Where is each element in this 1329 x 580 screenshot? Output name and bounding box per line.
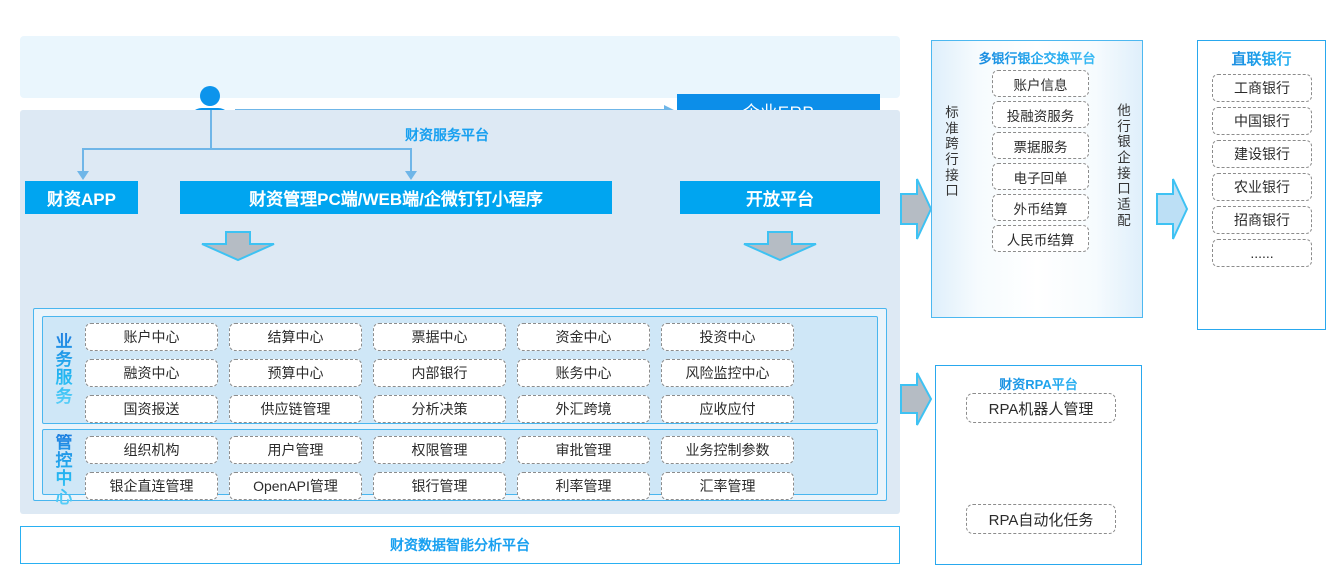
capability-cell[interactable]: 结算中心 bbox=[229, 323, 362, 351]
down-arrow-right-icon bbox=[742, 230, 818, 262]
down-arrow-left-icon bbox=[200, 230, 276, 262]
capability-cell[interactable]: 票据中心 bbox=[373, 323, 506, 351]
biz-label-char-0: 业 bbox=[51, 333, 77, 351]
direct-bank-item[interactable]: 农业银行 bbox=[1212, 173, 1312, 201]
mb-right-char-3: 企 bbox=[1114, 150, 1134, 166]
business-services-grid: 账户中心 结算中心 票据中心 资金中心 投资中心 融资中心 预算中心 内部银行 … bbox=[85, 323, 871, 423]
control-center-group: 管 控 中 心 组织机构 用户管理 权限管理 审批管理 业务控制参数 银企直连管… bbox=[42, 429, 878, 495]
capability-cell[interactable]: 资金中心 bbox=[517, 323, 650, 351]
rpa-item-automation-task[interactable]: RPA自动化任务 bbox=[966, 504, 1116, 534]
capability-cell[interactable]: OpenAPI管理 bbox=[229, 472, 362, 500]
mb-left-char-2: 跨 bbox=[942, 136, 962, 152]
capability-cell[interactable]: 用户管理 bbox=[229, 436, 362, 464]
biz-label-char-1: 务 bbox=[51, 351, 77, 369]
mb-right-char-5: 口 bbox=[1114, 181, 1134, 197]
mb-right-char-6: 适 bbox=[1114, 197, 1134, 213]
multi-bank-service-item[interactable]: 票据服务 bbox=[992, 132, 1089, 159]
capability-cell[interactable]: 银行管理 bbox=[373, 472, 506, 500]
multi-bank-service-item[interactable]: 账户信息 bbox=[992, 70, 1089, 97]
rpa-platform-panel: 财资RPA平台 RPA机器人管理 RPA自动化任务 bbox=[935, 365, 1142, 565]
channel-label-app: 财资APP bbox=[47, 185, 116, 210]
multi-bank-exchange-panel: 多银行银企交换平台 标 准 跨 行 接 口 账户信息 投融资服务 票据服务 电子… bbox=[931, 40, 1143, 318]
direct-bank-item[interactable]: 招商银行 bbox=[1212, 206, 1312, 234]
connector-horizontal bbox=[82, 148, 412, 150]
capability-cell[interactable]: 银企直连管理 bbox=[85, 472, 218, 500]
capability-cell[interactable]: 利率管理 bbox=[517, 472, 650, 500]
mb-left-char-5: 口 bbox=[942, 183, 962, 199]
multi-bank-title: 多银行银企交换平台 bbox=[932, 48, 1142, 67]
business-row: 融资中心 预算中心 内部银行 账务中心 风险监控中心 bbox=[85, 359, 871, 387]
capability-container: 业 务 服 务 账户中心 结算中心 票据中心 资金中心 投资中心 融资中心 bbox=[33, 308, 887, 501]
multi-bank-service-item[interactable]: 外币结算 bbox=[992, 194, 1089, 221]
rpa-platform-title: 财资RPA平台 bbox=[936, 374, 1141, 393]
capability-cell[interactable]: 账务中心 bbox=[517, 359, 650, 387]
capability-cell[interactable]: 内部银行 bbox=[373, 359, 506, 387]
channel-label-pc-web: 财资管理PC端/WEB端/企微钉钉小程序 bbox=[249, 185, 543, 210]
capability-cell[interactable]: 账户中心 bbox=[85, 323, 218, 351]
ctl-label-char-3: 心 bbox=[51, 489, 77, 507]
mb-right-char-0: 他 bbox=[1114, 103, 1134, 119]
direct-banks-panel: 直联银行 工商银行 中国银行 建设银行 农业银行 招商银行 ...... bbox=[1197, 40, 1326, 330]
mb-left-char-4: 接 bbox=[942, 168, 962, 184]
ctl-label-char-0: 管 bbox=[51, 434, 77, 452]
other-bank-interface-adapter-label: 他 行 银 企 接 口 适 配 bbox=[1114, 103, 1134, 228]
ctl-label-char-2: 中 bbox=[51, 470, 77, 488]
multi-bank-service-item[interactable]: 投融资服务 bbox=[992, 101, 1089, 128]
capability-cell[interactable]: 风险监控中心 bbox=[661, 359, 794, 387]
mb-right-char-4: 接 bbox=[1114, 166, 1134, 182]
direct-banks-list: 工商银行 中国银行 建设银行 农业银行 招商银行 ...... bbox=[1212, 74, 1312, 272]
mb-left-char-1: 准 bbox=[942, 121, 962, 137]
capability-cell[interactable]: 应收应付 bbox=[661, 395, 794, 423]
capability-cell[interactable]: 国资报送 bbox=[85, 395, 218, 423]
connector-vertical-main bbox=[210, 110, 212, 150]
biz-label-char-2: 服 bbox=[51, 369, 77, 387]
capability-cell[interactable]: 业务控制参数 bbox=[661, 436, 794, 464]
main-architecture-column: 企业ERP 财资服务平台 财资APP 财资管理PC端/WEB端/企微钉钉小程序 … bbox=[20, 36, 900, 564]
mb-right-char-7: 配 bbox=[1114, 213, 1134, 229]
arrow-right-to-multibank-icon bbox=[899, 176, 933, 247]
capability-cell[interactable]: 审批管理 bbox=[517, 436, 650, 464]
capability-cell[interactable]: 汇率管理 bbox=[661, 472, 794, 500]
connector-branch-left bbox=[82, 148, 84, 172]
capability-cell[interactable]: 融资中心 bbox=[85, 359, 218, 387]
arrow-right-to-rpa-icon bbox=[899, 370, 933, 433]
direct-bank-item[interactable]: 建设银行 bbox=[1212, 140, 1312, 168]
multi-bank-service-item[interactable]: 人民币结算 bbox=[992, 225, 1089, 252]
business-row: 国资报送 供应链管理 分析决策 外汇跨境 应收应付 bbox=[85, 395, 871, 423]
capability-cell[interactable]: 组织机构 bbox=[85, 436, 218, 464]
business-row: 账户中心 结算中心 票据中心 资金中心 投资中心 bbox=[85, 323, 871, 351]
direct-bank-item-more[interactable]: ...... bbox=[1212, 239, 1312, 267]
channel-box-open-platform[interactable]: 开放平台 bbox=[680, 181, 880, 214]
capability-cell[interactable]: 外汇跨境 bbox=[517, 395, 650, 423]
mb-left-char-0: 标 bbox=[942, 105, 962, 121]
direct-bank-item[interactable]: 中国银行 bbox=[1212, 107, 1312, 135]
capability-cell[interactable]: 权限管理 bbox=[373, 436, 506, 464]
mb-left-char-3: 行 bbox=[942, 152, 962, 168]
user-band bbox=[20, 36, 900, 98]
business-services-vertical-label: 业 务 服 务 bbox=[51, 333, 77, 406]
user-icon-head bbox=[200, 86, 220, 106]
capability-cell[interactable]: 预算中心 bbox=[229, 359, 362, 387]
control-row: 银企直连管理 OpenAPI管理 银行管理 利率管理 汇率管理 bbox=[85, 472, 871, 500]
direct-bank-item[interactable]: 工商银行 bbox=[1212, 74, 1312, 102]
service-platform-title: 财资服务平台 bbox=[405, 125, 489, 145]
rpa-item-robot-management[interactable]: RPA机器人管理 bbox=[966, 393, 1116, 423]
channel-box-pc-web[interactable]: 财资管理PC端/WEB端/企微钉钉小程序 bbox=[180, 181, 612, 214]
direct-banks-title: 直联银行 bbox=[1198, 48, 1325, 69]
connector-branch-right bbox=[410, 148, 412, 172]
standard-crossbank-interface-label: 标 准 跨 行 接 口 bbox=[942, 105, 962, 199]
arrow-right-to-directbank-icon bbox=[1155, 176, 1189, 247]
control-center-grid: 组织机构 用户管理 权限管理 审批管理 业务控制参数 银企直连管理 OpenAP… bbox=[85, 436, 871, 500]
control-center-vertical-label: 管 控 中 心 bbox=[51, 434, 77, 507]
capability-cell[interactable]: 投资中心 bbox=[661, 323, 794, 351]
multi-bank-service-item[interactable]: 电子回单 bbox=[992, 163, 1089, 190]
analysis-platform-label: 财资数据智能分析平台 bbox=[390, 535, 530, 555]
analysis-platform-bar: 财资数据智能分析平台 bbox=[20, 526, 900, 564]
capability-cell[interactable]: 分析决策 bbox=[373, 395, 506, 423]
mb-right-char-2: 银 bbox=[1114, 134, 1134, 150]
biz-label-char-3: 务 bbox=[51, 388, 77, 406]
capability-cell[interactable]: 供应链管理 bbox=[229, 395, 362, 423]
channel-box-app[interactable]: 财资APP bbox=[25, 181, 138, 214]
multi-bank-service-list: 账户信息 投融资服务 票据服务 电子回单 外币结算 人民币结算 bbox=[992, 70, 1089, 256]
service-platform-panel: 财资服务平台 财资APP 财资管理PC端/WEB端/企微钉钉小程序 开放平台 bbox=[20, 110, 900, 514]
mb-right-char-1: 行 bbox=[1114, 119, 1134, 135]
business-services-group: 业 务 服 务 账户中心 结算中心 票据中心 资金中心 投资中心 融资中心 bbox=[42, 316, 878, 424]
control-row: 组织机构 用户管理 权限管理 审批管理 业务控制参数 bbox=[85, 436, 871, 464]
channel-label-open-platform: 开放平台 bbox=[746, 185, 814, 210]
ctl-label-char-1: 控 bbox=[51, 452, 77, 470]
